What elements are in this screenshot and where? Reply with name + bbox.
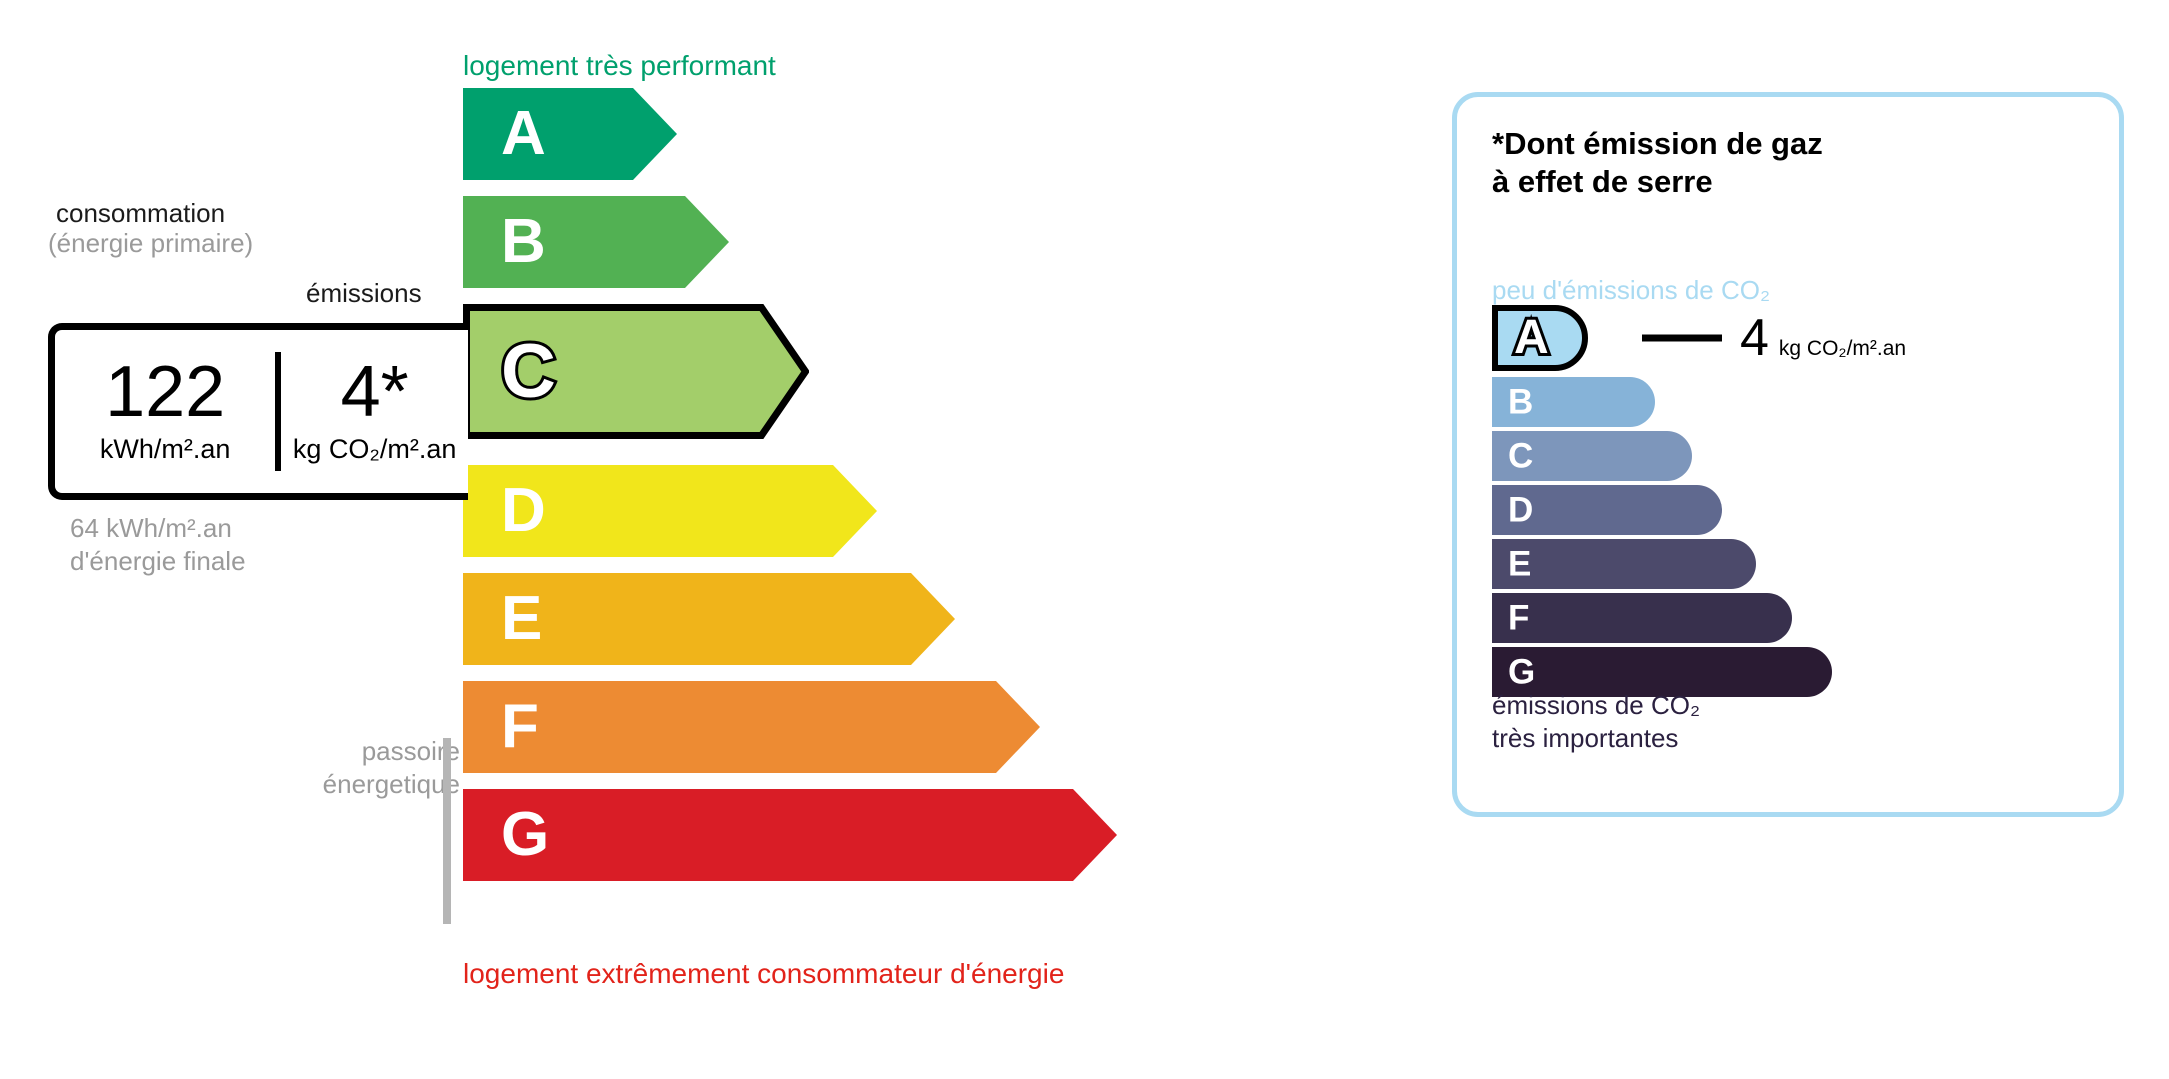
ges-bar-row-f: F — [1492, 593, 2092, 643]
final-energy-line1: 64 kWh/m².an — [70, 512, 246, 545]
ges-value: 4 — [1740, 312, 1769, 364]
dpe-diagram: logement très performant ABCDEFG consomm… — [0, 0, 2169, 1079]
energy-band-shape-a — [463, 88, 677, 180]
ges-bar-row-b: B — [1492, 377, 2092, 427]
emission-unit: kg CO₂/m².an — [293, 434, 457, 465]
ges-bar-row-e: E — [1492, 539, 2092, 589]
consumption-subheader: (énergie primaire) — [48, 228, 253, 259]
energy-band-letter-b: B — [501, 211, 546, 273]
final-energy-note: 64 kWh/m².an d'énergie finale — [70, 512, 246, 579]
ges-bar-f — [1492, 593, 1792, 643]
ges-bottom-caption: émissions de CO₂ très importantes — [1492, 689, 1700, 754]
ges-bar-list: A4kg CO₂/m².anBCDEFG — [1492, 305, 2092, 701]
emission-cell: 4* kg CO₂/m².an — [281, 330, 468, 493]
energy-band-shape-f — [463, 681, 1040, 773]
energy-band-letter-c: C — [501, 334, 556, 410]
ges-bar-letter-e: E — [1508, 547, 1531, 582]
energy-band-a: A — [463, 88, 1263, 180]
energy-band-d: D — [463, 465, 1263, 557]
energy-band-g: G — [463, 789, 1263, 881]
ges-bar-e — [1492, 539, 1756, 589]
energy-band-list: ABCDEFG — [463, 88, 1263, 897]
ges-bar-row-a: A4kg CO₂/m².an — [1492, 305, 2092, 371]
ges-title-line1: *Dont émission de gaz — [1492, 125, 1823, 163]
energy-band-shape-g — [463, 789, 1117, 881]
ges-value-group: 4kg CO₂/m².an — [1740, 312, 1906, 364]
emissions-header: émissions — [306, 278, 422, 309]
energy-band-b: B — [463, 196, 1263, 288]
passoire-line2: énergetique — [280, 768, 460, 801]
final-energy-line2: d'énergie finale — [70, 545, 246, 578]
ges-leader-line — [1642, 335, 1722, 342]
ges-bottom-line1: émissions de CO₂ — [1492, 689, 1700, 722]
ges-panel-title: *Dont émission de gaz à effet de serre — [1492, 125, 1823, 201]
ges-top-caption: peu d'émissions de CO₂ — [1492, 275, 1770, 306]
energy-top-caption: logement très performant — [463, 50, 776, 82]
ges-value-unit: kg CO₂/m².an — [1779, 337, 1906, 361]
ges-bar-row-c: C — [1492, 431, 2092, 481]
passoire-label: passoire énergetique — [280, 735, 460, 802]
energy-band-letter-f: F — [501, 696, 539, 758]
energy-band-f: F — [463, 681, 1263, 773]
ges-bar-letter-d: D — [1508, 493, 1533, 528]
energy-band-e: E — [463, 573, 1263, 665]
consumption-header: consommation — [56, 198, 225, 229]
ges-bar-letter-b: B — [1508, 385, 1533, 420]
energy-scale: logement très performant ABCDEFG consomm… — [0, 0, 1420, 1079]
ges-bar-letter-f: F — [1508, 601, 1529, 636]
energy-band-letter-d: D — [501, 480, 546, 542]
energy-band-letter-g: G — [501, 804, 549, 866]
passoire-marker-bar — [443, 738, 451, 924]
ges-bar-letter-a: A — [1514, 314, 1549, 362]
emission-value: 4* — [341, 358, 409, 426]
ges-bar-row-d: D — [1492, 485, 2092, 535]
ges-bottom-line2: très importantes — [1492, 722, 1700, 755]
ges-title-line2: à effet de serre — [1492, 163, 1823, 201]
energy-band-letter-e: E — [501, 588, 542, 650]
ges-bar-letter-c: C — [1508, 439, 1533, 474]
value-box: 122 kWh/m².an 4* kg CO₂/m².an — [48, 323, 468, 500]
consumption-value: 122 — [105, 358, 225, 426]
energy-band-c: C — [463, 304, 1263, 439]
energy-bottom-caption: logement extrêmement consommateur d'éner… — [463, 958, 1064, 990]
consumption-unit: kWh/m².an — [100, 434, 231, 465]
energy-band-letter-a: A — [501, 103, 546, 165]
ges-bar-letter-g: G — [1508, 655, 1535, 690]
ges-panel: *Dont émission de gaz à effet de serre p… — [1452, 92, 2124, 817]
passoire-line1: passoire — [280, 735, 460, 768]
consumption-cell: 122 kWh/m².an — [55, 330, 275, 493]
